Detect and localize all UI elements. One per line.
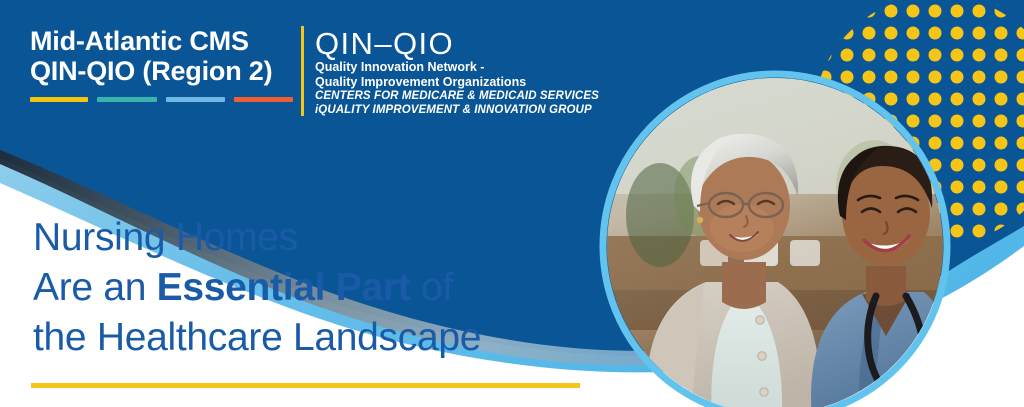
brand-rule-yellow	[30, 97, 88, 102]
headline-underline-rule	[31, 383, 580, 388]
headline-emphasis: Essential Part	[157, 266, 411, 309]
brand-rule-blue	[166, 97, 225, 102]
headline-line-2-prefix: Are an	[33, 266, 157, 309]
org-name-line2: QIN-QIO (Region 2)	[30, 56, 292, 86]
qin-qio-subline-1: Quality Innovation Network -	[315, 60, 599, 75]
brand-rule-teal	[97, 97, 156, 102]
promo-banner: Mid-Atlantic CMS QIN-QIO (Region 2) QIN–…	[0, 0, 1024, 407]
qin-qio-subline-4: iQUALITY IMPROVEMENT & INNOVATION GROUP	[315, 103, 599, 117]
headline-line-3: the Healthcare Landscape	[33, 313, 481, 363]
headline-block: Nursing Homes Are an Essential Part of t…	[33, 213, 481, 363]
qin-qio-wordmark: QIN–QIO	[315, 27, 599, 60]
brand-rule-row	[30, 97, 293, 102]
headline-line-2: Are an Essential Part of	[33, 263, 481, 313]
logo-divider	[301, 26, 304, 116]
qin-qio-mark: QIN–QIO Quality Innovation Network - Qua…	[315, 26, 599, 117]
qin-qio-subline-3: CENTERS FOR MEDICARE & MEDICAID SERVICES	[315, 89, 599, 103]
headline-line-1: Nursing Homes	[33, 213, 481, 263]
qin-qio-subline-2: Quality Improvement Organizations	[315, 75, 599, 90]
org-name-block: Mid-Atlantic CMS QIN-QIO (Region 2)	[30, 26, 292, 102]
brand-rule-orange	[234, 97, 293, 102]
logo-lockup: Mid-Atlantic CMS QIN-QIO (Region 2) QIN–…	[30, 26, 599, 117]
headline-line-2-suffix: of	[410, 266, 452, 309]
org-name-line1: Mid-Atlantic CMS	[30, 26, 292, 56]
